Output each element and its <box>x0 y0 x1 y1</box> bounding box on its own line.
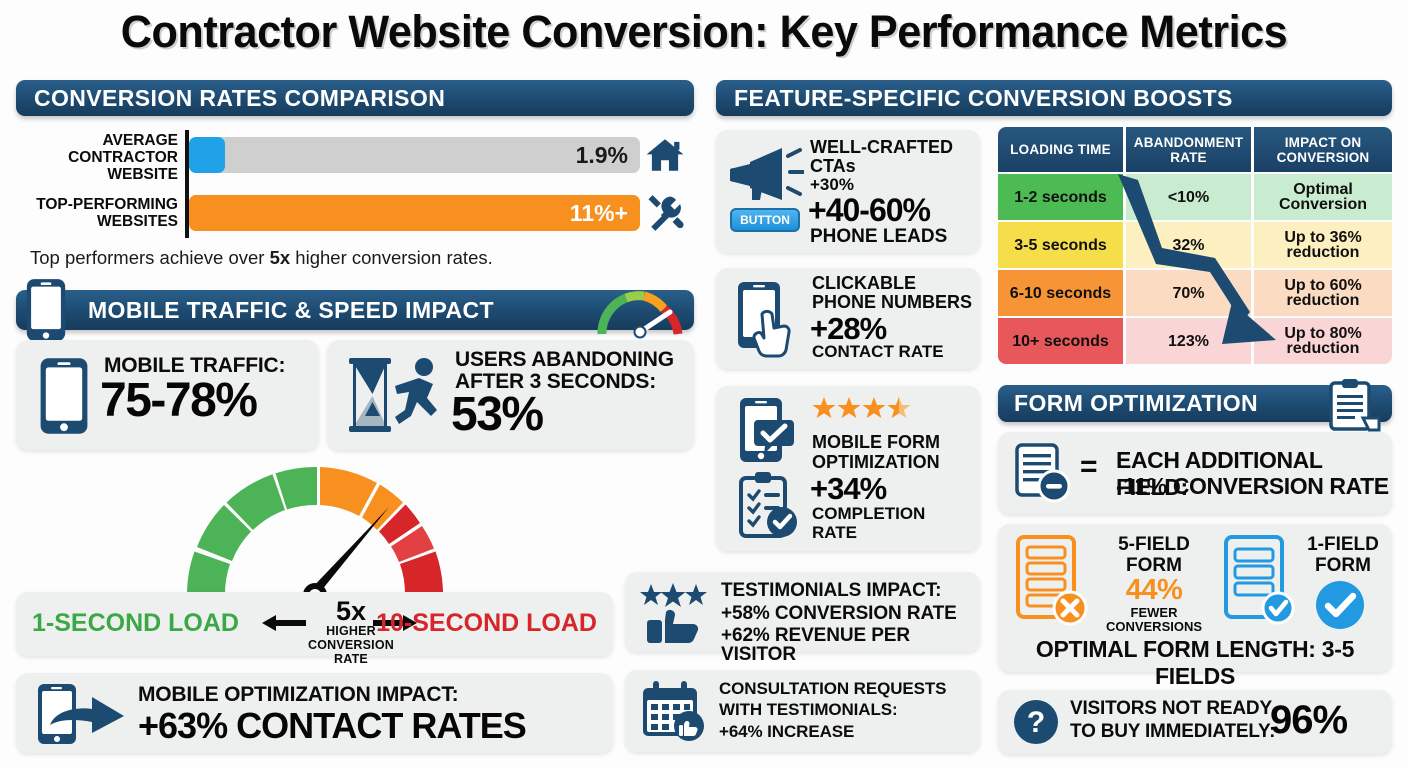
document-minus-icon <box>1012 442 1074 504</box>
section-header-conversion-rates: CONVERSION RATES COMPARISON <box>16 80 694 116</box>
cta-big-value: +40-60% <box>808 192 930 229</box>
bar-value-average-contractor: 1.9% <box>576 142 640 169</box>
check-circle-icon <box>1314 579 1366 631</box>
not-ready-line1: VISITORS NOT READY <box>1070 698 1272 720</box>
table-cell-impact: Up to 80% reduction <box>1254 318 1392 364</box>
table-cell-rate: 70% <box>1126 270 1251 316</box>
mobile-form-big: +34% <box>810 471 886 507</box>
tools-icon <box>643 191 687 235</box>
clickable-phone-line1: CLICKABLE <box>812 274 916 293</box>
section-header-feature-boosts: FEATURE-SPECIFIC CONVERSION BOOSTS <box>716 80 1392 116</box>
table-cell-time: 6-10 seconds <box>998 270 1123 316</box>
page-title: Contractor Website Conversion: Key Perfo… <box>28 6 1380 58</box>
equals-sign: = <box>1080 450 1098 484</box>
testimonials-line2: +58% CONVERSION RATE <box>721 604 957 623</box>
table-header-impact: IMPACT ONCONVERSION <box>1254 127 1392 172</box>
table-cell-impact: Up to 36% reduction <box>1254 222 1392 268</box>
table-cell-impact: Up to 60% reduction <box>1254 270 1392 316</box>
bar-label-top-performing: TOP-PERFORMING WEBSITES <box>28 196 178 230</box>
speed-gauge-graphic <box>165 455 465 605</box>
mobile-optimization-line2: +63% CONTACT RATES <box>138 705 526 747</box>
mobile-form-line3: COMPLETION <box>812 504 925 523</box>
card-well-crafted-ctas: WELL-CRAFTED CTAs +30% +40-60% PHONE LEA… <box>716 130 980 253</box>
card-mobile-traffic: MOBILE TRAFFIC: 75-78% <box>16 340 319 450</box>
section-header-mobile-speed-label: MOBILE TRAFFIC & SPEED IMPACT <box>88 297 494 324</box>
section-header-form-optimization-label: FORM OPTIMIZATION <box>1014 390 1258 417</box>
bar-track-top-performing: 11%+ <box>189 195 640 231</box>
users-abandoning-value: 53% <box>451 390 543 440</box>
house-icon <box>644 134 686 176</box>
bar-chart-note: Top performers achieve over 5x higher co… <box>30 247 493 269</box>
card-clickable-phone-numbers: CLICKABLE PHONE NUMBERS +28% CONTACT RAT… <box>716 268 980 369</box>
gauge-center-sub-2: CONVERSION RATE <box>291 638 411 666</box>
testimonials-line3: +62% REVENUE PER VISITOR <box>721 626 980 664</box>
megaphone-icon <box>730 144 804 202</box>
not-ready-line2: TO BUY IMMEDIATELY: <box>1070 721 1275 743</box>
optimal-form-length-footer: OPTIMAL FORM LENGTH: 3-5 FIELDS <box>998 636 1392 690</box>
card-each-additional-field: = EACH ADDITIONAL FIELD: -11% CONVERSION… <box>998 432 1392 514</box>
gauge-label-strip: 1-SECOND LOAD 5x HIGHER CONVERSION RATE … <box>16 592 613 656</box>
table-cell-rate: <10% <box>1126 174 1251 220</box>
card-mobile-optimization: MOBILE OPTIMIZATION IMPACT: +63% CONTACT… <box>16 673 613 753</box>
cta-line4: PHONE LEADS <box>810 226 947 248</box>
table-cell-rate: 32% <box>1126 222 1251 268</box>
form-x-icon <box>1014 534 1092 626</box>
bar-fill-average-contractor <box>189 137 225 173</box>
table-cell-impact: Optimal Conversion <box>1254 174 1392 220</box>
clickable-phone-line3: CONTACT RATE <box>812 342 944 362</box>
table-cell-time: 3-5 seconds <box>998 222 1123 268</box>
star-rating-icon <box>812 396 912 420</box>
testimonials-line1: TESTIMONIALS IMPACT: <box>721 581 941 600</box>
smartphone-icon <box>38 357 90 435</box>
table-cell-rate: 123% <box>1126 318 1251 364</box>
additional-field-line2: -11% CONVERSION RATE <box>1116 473 1389 500</box>
bar-track-average-contractor: 1.9% <box>189 137 640 173</box>
mobile-traffic-value: 75-78% <box>100 376 256 426</box>
five-field-title: 5-FIELD FORM <box>1102 534 1206 576</box>
cta-button[interactable]: BUTTON <box>730 208 800 232</box>
table-header-abandonment-rate: ABANDONMENTRATE <box>1126 127 1251 172</box>
cta-line1: WELL-CRAFTED <box>810 138 953 157</box>
question-mark-icon: ? <box>1012 698 1060 746</box>
consultation-line1: CONSULTATION REQUESTS <box>719 679 946 698</box>
card-testimonials-impact: TESTIMONIALS IMPACT: +58% CONVERSION RAT… <box>625 572 980 652</box>
bar-value-top-performing: 11%+ <box>570 200 640 227</box>
one-field-title: 1-FIELD FORM <box>1298 534 1388 576</box>
infographic-root: Contractor Website Conversion: Key Perfo… <box>0 0 1408 768</box>
consultation-line2: WITH TESTIMONIALS: <box>719 700 898 719</box>
users-abandoning-caption-1: USERS ABANDONING <box>455 348 674 371</box>
table-cell-time: 1-2 seconds <box>998 174 1123 220</box>
bar-label-average-contractor: AVERAGE CONTRACTOR WEBSITE <box>40 132 178 183</box>
gauge-left-label: 1-SECOND LOAD <box>32 609 239 638</box>
mobile-form-line1: MOBILE FORM <box>812 432 940 452</box>
section-header-feature-boosts-label: FEATURE-SPECIFIC CONVERSION BOOSTS <box>734 85 1233 112</box>
phone-tap-icon <box>736 280 798 358</box>
cta-line2: CTAs <box>810 157 856 176</box>
gauge-icon <box>588 278 692 340</box>
table-row: 10+ seconds 123% Up to 80% reduction <box>998 318 1392 364</box>
table-cell-time: 10+ seconds <box>998 318 1123 364</box>
table-header-loading-time: LOADING TIME <box>998 127 1123 172</box>
card-mobile-form-optimization: MOBILE FORM OPTIMIZATION +34% COMPLETION… <box>716 386 980 551</box>
five-field-percent: 44% <box>1102 574 1206 607</box>
thumbs-up-stars-icon <box>639 582 711 644</box>
not-ready-value: 96% <box>1270 698 1347 743</box>
calendar-thumbs-icon <box>639 680 709 742</box>
phone-share-icon <box>36 683 128 745</box>
form-check-icon <box>1222 534 1298 626</box>
phone-check-icon <box>738 396 796 464</box>
mobile-form-line4: RATE <box>812 523 857 542</box>
mobile-form-line2: OPTIMIZATION <box>812 452 940 472</box>
card-users-abandoning: USERS ABANDONING AFTER 3 SECONDS: 53% <box>327 340 694 450</box>
consultation-line3: +64% INCREASE <box>719 722 854 741</box>
hourglass-runner-icon <box>341 354 451 436</box>
clipboard-check-icon <box>738 470 800 540</box>
card-form-comparison: 5-FIELD FORM 44% FEWER CONVERSIONS 1-FIE… <box>998 524 1392 672</box>
svg-text:?: ? <box>1027 706 1045 739</box>
gauge-right-label: 10-SECOND LOAD <box>376 609 597 638</box>
table-row: 3-5 seconds 32% Up to 36% reduction <box>998 222 1392 268</box>
table-row: 1-2 seconds <10% Optimal Conversion <box>998 174 1392 220</box>
table-row: 6-10 seconds 70% Up to 60% reduction <box>998 270 1392 316</box>
clipboard-icon <box>1325 378 1383 432</box>
section-header-conversion-rates-label: CONVERSION RATES COMPARISON <box>34 85 445 112</box>
loading-time-table: LOADING TIME ABANDONMENTRATE IMPACT ONCO… <box>998 127 1392 364</box>
table-header-row: LOADING TIME ABANDONMENTRATE IMPACT ONCO… <box>998 127 1392 172</box>
smartphone-icon <box>24 277 68 343</box>
five-field-sub: FEWER CONVERSIONS <box>1090 606 1218 634</box>
clickable-phone-line2: PHONE NUMBERS <box>812 293 972 312</box>
card-consultation-requests: CONSULTATION REQUESTS WITH TESTIMONIALS:… <box>625 670 980 752</box>
card-visitors-not-ready: ? VISITORS NOT READY TO BUY IMMEDIATELY:… <box>998 690 1392 754</box>
mobile-optimization-line1: MOBILE OPTIMIZATION IMPACT: <box>138 684 458 705</box>
